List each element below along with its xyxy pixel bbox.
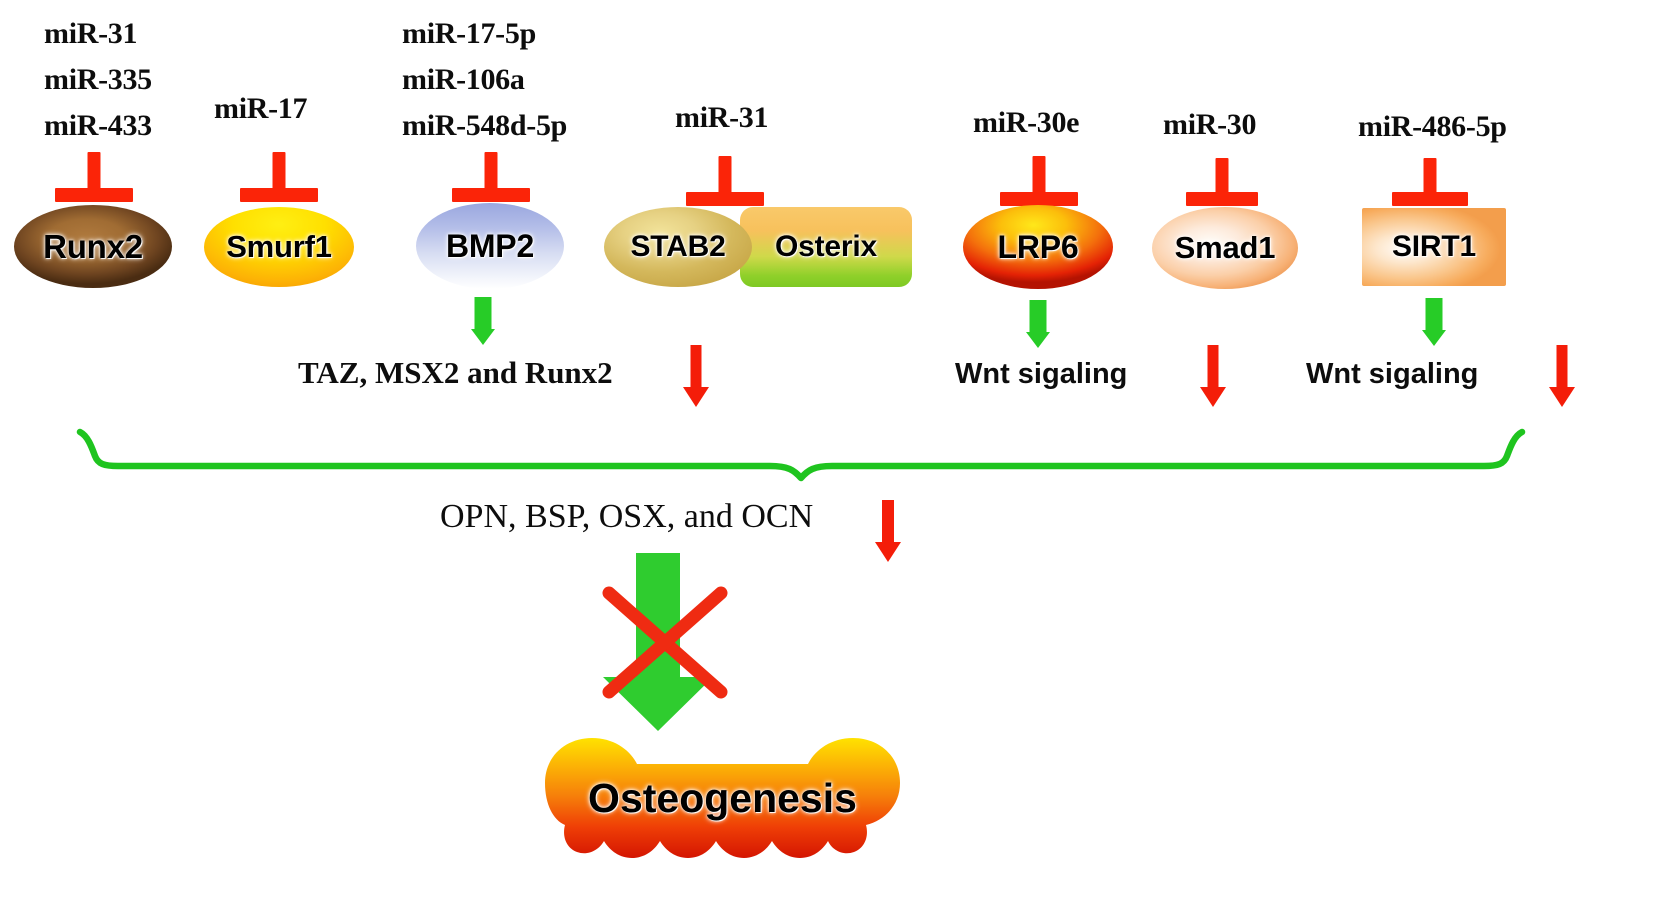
red-arrow-stab2-osterix — [679, 345, 713, 407]
inhibition-bar-stab2 — [686, 156, 764, 206]
node-label-stab2: STAB2 — [630, 230, 725, 264]
inhibition-bar-bmp2 — [452, 152, 530, 202]
inhibition-bar-smad1 — [1186, 158, 1258, 206]
mirna-label-mir-335: miR-335 — [44, 63, 152, 97]
node-osterix[interactable]: Osterix — [740, 207, 912, 287]
inhibition-bar-runx2 — [55, 152, 133, 202]
inhibition-bar-smurf1 — [240, 152, 318, 202]
green-arrow-sirt1 — [1414, 298, 1454, 346]
downstream-bmp2: TAZ, MSX2 and Runx2 — [298, 355, 613, 391]
node-smad1[interactable]: Smad1 — [1152, 207, 1298, 289]
node-label-bmp2: BMP2 — [446, 228, 534, 265]
inhibition-bar-lrp6 — [1000, 156, 1078, 206]
node-osteogenesis[interactable]: Osteogenesis — [545, 738, 900, 858]
red-arrow-sirt1-wnt — [1545, 345, 1579, 407]
node-label-smurf1: Smurf1 — [226, 229, 332, 265]
mirna-label-mir-17: miR-17 — [214, 92, 307, 126]
mirna-label-mir-433: miR-433 — [44, 109, 152, 143]
node-label-runx2: Runx2 — [43, 228, 143, 266]
node-label-sirt1: SIRT1 — [1392, 230, 1476, 264]
inhibition-bar-sirt1 — [1392, 158, 1468, 206]
downstream-sirt1: Wnt sigaling — [1306, 358, 1478, 391]
mirna-label-mir-548d-5p: miR-548d-5p — [402, 109, 567, 143]
node-label-osterix: Osterix — [775, 230, 877, 264]
node-runx2[interactable]: Runx2 — [14, 205, 172, 288]
node-sirt1[interactable]: SIRT1 — [1362, 208, 1506, 286]
pathway-diagram: miR-31 miR-335 miR-433 miR-17 miR-17-5p … — [0, 0, 1654, 912]
green-arrow-lrp6 — [1018, 300, 1058, 348]
bone-markers-label: OPN, BSP, OSX, and OCN — [440, 498, 813, 536]
mirna-label-mir-106a: miR-106a — [402, 63, 525, 97]
mirna-label-mir-17-5p: miR-17-5p — [402, 17, 536, 51]
node-label-osteogenesis: Osteogenesis — [588, 775, 857, 822]
node-label-smad1: Smad1 — [1175, 230, 1276, 266]
node-lrp6[interactable]: LRP6 — [963, 205, 1113, 289]
downstream-lrp6: Wnt sigaling — [955, 358, 1127, 391]
mirna-label-mir-31: miR-31 — [44, 17, 137, 51]
mirna-label-mir-30e: miR-30e — [973, 106, 1079, 140]
node-label-lrp6: LRP6 — [998, 229, 1079, 266]
node-bmp2[interactable]: BMP2 — [416, 203, 564, 289]
green-arrow-bmp2 — [463, 297, 503, 345]
blocked-green-arrow — [603, 553, 713, 731]
node-smurf1[interactable]: Smurf1 — [204, 207, 354, 287]
red-arrow-smad1 — [1196, 345, 1230, 407]
mirna-label-mir-31-stab2: miR-31 — [675, 101, 768, 135]
node-stab2[interactable]: STAB2 — [604, 207, 752, 287]
mirna-label-mir-486-5p: miR-486-5p — [1358, 110, 1507, 144]
red-arrow-bone-markers — [870, 500, 906, 562]
mirna-label-mir-30: miR-30 — [1163, 108, 1256, 142]
